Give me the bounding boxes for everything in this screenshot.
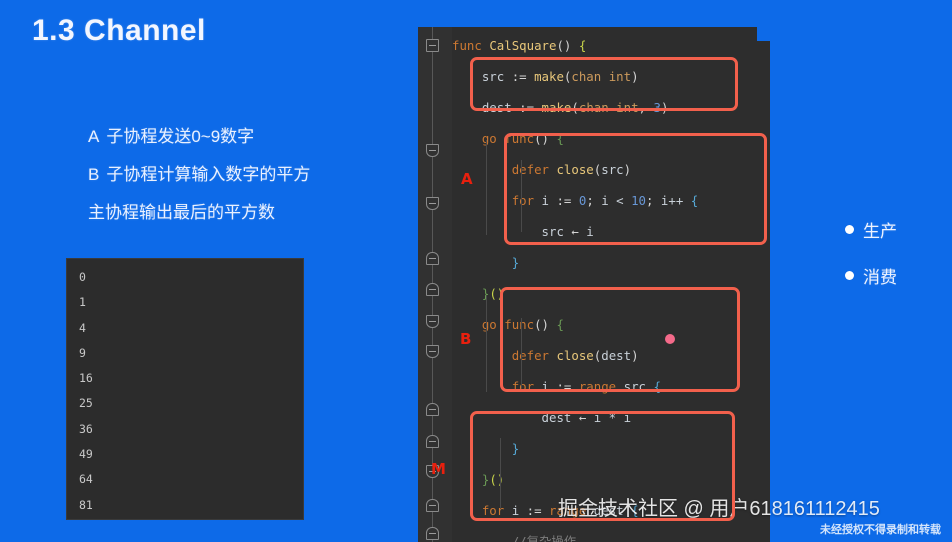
code-token: chan int: [571, 69, 631, 84]
code-line[interactable]: go func() {: [452, 309, 772, 340]
code-token: for: [482, 503, 512, 518]
right-label-text: 生产: [863, 217, 897, 242]
code-token: src: [624, 379, 654, 394]
code-fold-icon[interactable]: [426, 345, 439, 358]
code-token: i * i: [594, 410, 631, 425]
console-line: 64: [79, 467, 303, 492]
code-token: dest: [482, 100, 519, 115]
code-token: CalSquare: [489, 38, 556, 53]
code-token: 10: [631, 193, 646, 208]
code-token: {: [691, 193, 698, 208]
code-token: ): [631, 348, 638, 363]
cursor-dot: [665, 334, 675, 344]
annotation-label-a: A: [461, 170, 473, 188]
code-token: ): [624, 162, 631, 177]
code-token: }: [512, 255, 519, 270]
code-fold-icon[interactable]: [426, 144, 439, 157]
code-token: :=: [512, 69, 534, 84]
code-token: }: [512, 441, 519, 456]
code-token: {: [556, 317, 563, 332]
code-fold-icon[interactable]: [426, 403, 439, 416]
code-fold-icon[interactable]: [426, 252, 439, 265]
code-token: make: [542, 100, 572, 115]
code-token: i: [542, 193, 557, 208]
annotation-label-b: B: [460, 330, 471, 348]
code-token: i: [586, 224, 593, 239]
code-token: close: [556, 162, 593, 177]
code-token: func: [452, 38, 489, 53]
code-token: (): [489, 472, 504, 487]
code-token: chan int: [579, 100, 639, 115]
code-token: ←: [571, 224, 586, 239]
indent-guide: [500, 438, 501, 508]
code-fold-icon[interactable]: [426, 283, 439, 296]
code-token: {: [556, 131, 563, 146]
list-item-label: 主协程输出最后的平方数: [88, 203, 275, 222]
code-token: close: [556, 348, 593, 363]
code-token: range: [579, 379, 624, 394]
code-token: :=: [527, 503, 549, 518]
list-item: B子协程计算输入数字的平方: [88, 156, 388, 194]
code-token: make: [534, 69, 564, 84]
code-line[interactable]: dest := make(chan int, 3): [452, 92, 772, 123]
code-line[interactable]: defer close(dest): [452, 340, 772, 371]
slide-canvas: 1.3 Channel A子协程发送0~9数字 B子协程计算输入数字的平方 主协…: [0, 0, 952, 542]
code-fold-icon[interactable]: [426, 315, 439, 328]
description-list: A子协程发送0~9数字 B子协程计算输入数字的平方 主协程输出最后的平方数: [88, 118, 388, 232]
code-token: {: [579, 38, 586, 53]
code-token: {: [653, 379, 660, 394]
code-line[interactable]: for i := 0; i < 10; i++ {: [452, 185, 772, 216]
code-token: defer: [512, 348, 557, 363]
code-line[interactable]: dest ← i * i: [452, 402, 772, 433]
console-line: 4: [79, 316, 303, 341]
code-token: ;: [586, 193, 601, 208]
code-line[interactable]: }: [452, 247, 772, 278]
indent-guide: [521, 160, 522, 232]
code-token: ,: [639, 100, 654, 115]
code-token: for: [512, 193, 542, 208]
dot-icon: [845, 225, 854, 234]
code-token: i: [512, 503, 527, 518]
code-line[interactable]: }(): [452, 278, 772, 309]
code-token: src: [542, 224, 572, 239]
code-token: defer: [512, 162, 557, 177]
right-label-consumer: 消费: [845, 264, 897, 286]
indent-guide: [486, 140, 487, 235]
code-line[interactable]: func CalSquare() {: [452, 30, 772, 61]
code-token: :=: [556, 379, 578, 394]
console-line: 81: [79, 493, 303, 518]
console-line: 49: [79, 442, 303, 467]
code-token: src: [601, 162, 623, 177]
list-item: A子协程发送0~9数字: [88, 118, 388, 156]
list-item-label: 子协程计算输入数字的平方: [106, 165, 310, 184]
code-token: ): [661, 100, 668, 115]
watermark-sub: 未经授权不得录制和转载: [820, 521, 941, 537]
code-line[interactable]: defer close(src): [452, 154, 772, 185]
watermark-main: 掘金技术社区 @ 用户618161112415: [558, 492, 880, 521]
code-token: func: [504, 131, 534, 146]
code-line[interactable]: go func() {: [452, 123, 772, 154]
list-item: 主协程输出最后的平方数: [88, 194, 388, 232]
right-annotation-labels: 生产 消费: [845, 218, 897, 310]
code-token: ): [631, 69, 638, 84]
code-fold-icon[interactable]: [426, 39, 439, 52]
console-line: 16: [79, 366, 303, 391]
code-line[interactable]: src := make(chan int): [452, 61, 772, 92]
code-token: (: [571, 100, 578, 115]
right-label-text: 消费: [863, 263, 897, 288]
code-token: ←: [579, 410, 594, 425]
code-token: func: [504, 317, 534, 332]
annotation-label-m: M: [431, 460, 446, 478]
code-token: src: [482, 69, 512, 84]
code-token: ;: [646, 193, 661, 208]
console-line: 1: [79, 290, 303, 315]
code-token: :=: [556, 193, 578, 208]
list-item-letter: B: [88, 165, 99, 184]
code-token: i++: [661, 193, 691, 208]
code-line[interactable]: src ← i: [452, 216, 772, 247]
code-token: i <: [601, 193, 631, 208]
code-token: (): [534, 317, 556, 332]
console-line: 36: [79, 417, 303, 442]
code-fold-icon[interactable]: [426, 499, 439, 512]
console-output-panel[interactable]: 0149162536496481: [66, 258, 304, 520]
code-token: :=: [519, 100, 541, 115]
code-token: 3: [653, 100, 660, 115]
code-fold-icon[interactable]: [426, 527, 439, 540]
indent-guide: [521, 318, 522, 388]
code-line[interactable]: for i := range src {: [452, 371, 772, 402]
console-line: 0: [79, 265, 303, 290]
code-token: for: [512, 379, 542, 394]
dot-icon: [845, 271, 854, 280]
code-token: dest: [542, 410, 579, 425]
code-token: dest: [601, 348, 631, 363]
code-fold-icon[interactable]: [426, 197, 439, 210]
list-item-letter: A: [88, 127, 99, 146]
code-token: (): [534, 131, 556, 146]
page-title: 1.3 Channel: [32, 14, 206, 48]
code-token: i: [542, 379, 557, 394]
code-fold-icon[interactable]: [426, 435, 439, 448]
right-label-producer: 生产: [845, 218, 897, 240]
console-line: 9: [79, 341, 303, 366]
code-token: (): [489, 286, 504, 301]
indent-guide: [486, 296, 487, 392]
console-line: 25: [79, 391, 303, 416]
code-token: //复杂操作: [512, 534, 576, 542]
code-line[interactable]: //复杂操作: [452, 526, 772, 542]
list-item-label: 子协程发送0~9数字: [106, 127, 254, 146]
code-token: (): [556, 38, 578, 53]
